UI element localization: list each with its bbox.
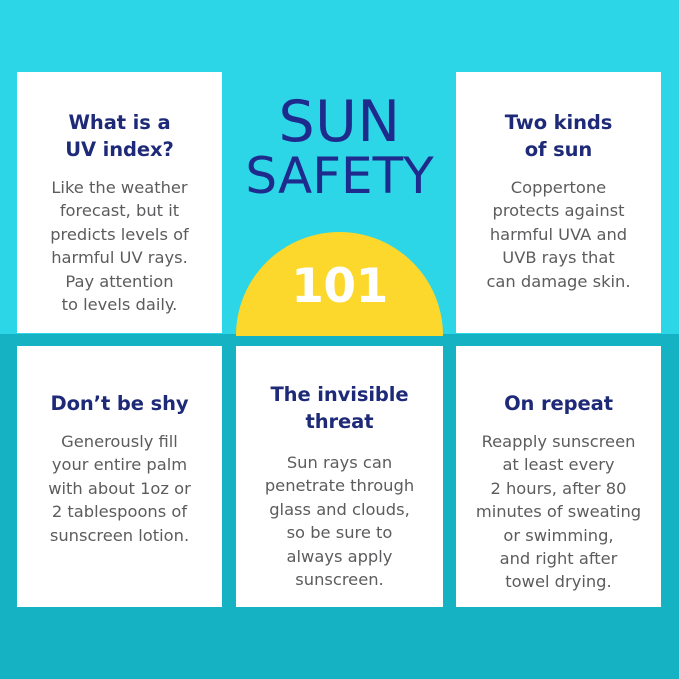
infographic-canvas: What is aUV index? Like the weatherforec… [0, 0, 679, 679]
card-on-repeat-title: On repeat [498, 390, 619, 417]
card-dont-be-shy: Don’t be shy Generously fillyour entire … [17, 346, 222, 607]
logo-badge-101: 101 [236, 262, 443, 312]
card-two-kinds-of-sun-body: Coppertoneprotects againstharmful UVA an… [478, 176, 638, 293]
card-two-kinds-of-sun-title: Two kindsof sun [499, 109, 619, 163]
card-invisible-threat-body: Sun rays canpenetrate throughglass and c… [257, 451, 422, 591]
card-dont-be-shy-title: Don’t be shy [45, 390, 195, 417]
sun-safety-logo: SUN SAFETY 101 [236, 72, 443, 334]
card-dont-be-shy-body: Generously fillyour entire palmwith abou… [40, 430, 199, 547]
card-uv-index: What is aUV index? Like the weatherforec… [17, 72, 222, 333]
card-on-repeat-body: Reapply sunscreenat least every2 hours, … [468, 430, 649, 594]
logo-word-sun: SUN [236, 93, 443, 151]
card-uv-index-body: Like the weatherforecast, but itpredicts… [42, 176, 197, 316]
card-two-kinds-of-sun: Two kindsof sun Coppertoneprotects again… [456, 72, 661, 333]
card-invisible-threat-title: The invisiblethreat [264, 381, 414, 435]
card-invisible-threat: The invisiblethreat Sun rays canpenetrat… [236, 346, 443, 607]
card-uv-index-title: What is aUV index? [59, 109, 179, 163]
logo-word-safety: SAFETY [236, 150, 443, 202]
card-on-repeat: On repeat Reapply sunscreenat least ever… [456, 346, 661, 607]
